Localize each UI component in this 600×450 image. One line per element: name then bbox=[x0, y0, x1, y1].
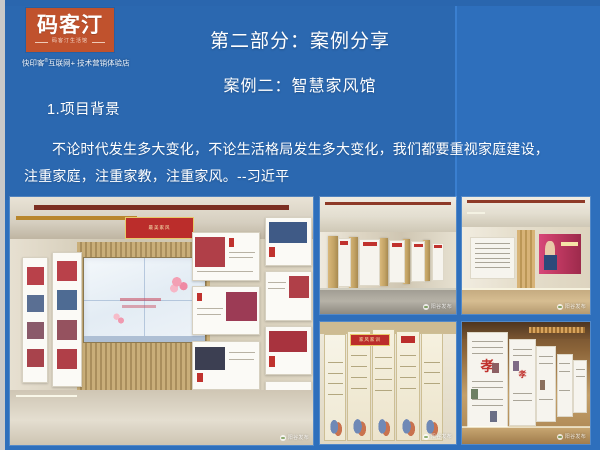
screen-text-line-1 bbox=[120, 298, 161, 301]
baseboard-light bbox=[462, 288, 590, 290]
panel-photo bbox=[540, 380, 545, 390]
scroll-illustration bbox=[329, 413, 342, 436]
board-photo bbox=[226, 292, 257, 321]
ceiling-band bbox=[467, 200, 585, 203]
panel-header-banner bbox=[434, 245, 442, 248]
board-text-line bbox=[229, 257, 253, 258]
display-pillar bbox=[380, 238, 388, 286]
board-photo bbox=[27, 349, 44, 366]
watermark: 阳谷发布 bbox=[557, 304, 586, 310]
background-top-sheen bbox=[0, 0, 600, 6]
board-text-line bbox=[197, 314, 221, 315]
board-seal bbox=[269, 247, 274, 257]
board-photo bbox=[195, 237, 224, 266]
logo-brand-ornament: 码客汀生活馆 bbox=[52, 38, 88, 45]
wechat-icon bbox=[423, 304, 429, 310]
portrait-title-bar bbox=[561, 242, 578, 246]
photo-top-right-2: 阳谷发布 bbox=[462, 197, 590, 314]
board-text-line bbox=[197, 308, 224, 309]
board-photo bbox=[27, 267, 44, 284]
watermark-text: 阳谷发布 bbox=[431, 434, 452, 440]
floor bbox=[320, 288, 456, 314]
board-seal bbox=[197, 293, 202, 301]
board-seal bbox=[197, 373, 203, 382]
scroll-illustration bbox=[401, 412, 415, 436]
watermark-text: 阳谷发布 bbox=[565, 434, 586, 440]
watermark-text: 阳谷发布 bbox=[288, 435, 309, 441]
board-photo bbox=[27, 322, 44, 339]
board-photo bbox=[57, 290, 78, 310]
display-board bbox=[192, 232, 261, 281]
led-video-wall bbox=[83, 257, 206, 343]
display-panel bbox=[432, 243, 445, 281]
photo-top-right-1: 阳谷发布 bbox=[320, 197, 456, 314]
board-photo bbox=[289, 276, 309, 298]
display-board bbox=[265, 271, 312, 320]
board-photo bbox=[269, 331, 307, 353]
wechat-icon bbox=[557, 434, 563, 440]
scroll-panel bbox=[372, 329, 396, 441]
watermark: 阳谷发布 bbox=[423, 304, 452, 310]
portrait-figure-body bbox=[544, 255, 557, 270]
scroll-panel bbox=[347, 331, 371, 442]
display-panel bbox=[389, 240, 405, 283]
display-board bbox=[265, 326, 312, 375]
scroll-illustration bbox=[425, 413, 438, 436]
board-text-line bbox=[229, 252, 256, 253]
big-character: 孝 bbox=[518, 371, 528, 379]
board-text-line bbox=[268, 282, 286, 283]
ceiling-strip-gold bbox=[16, 216, 137, 220]
panel-photo bbox=[513, 361, 519, 371]
brand-logo: 码客汀 码客汀生活馆 快印客®互联网+ 技术营销体验店 bbox=[22, 8, 118, 69]
display-panel bbox=[573, 360, 587, 413]
slide-subtitle: 案例二：智慧家风馆 bbox=[0, 76, 600, 97]
screen-taskbar bbox=[84, 336, 205, 342]
exhibit-sign: 最美家风 bbox=[125, 217, 194, 239]
wechat-icon bbox=[423, 434, 429, 440]
watermark: 阳谷发布 bbox=[280, 435, 309, 441]
floor bbox=[10, 390, 313, 445]
board-photo bbox=[27, 295, 44, 312]
board-text-line bbox=[229, 352, 256, 353]
watermark: 阳谷发布 bbox=[557, 434, 586, 440]
photo-tr1-scene bbox=[320, 197, 456, 314]
scroll-panel bbox=[421, 333, 443, 441]
ceiling-strip bbox=[34, 205, 289, 211]
watermark: 阳谷发布 bbox=[423, 434, 452, 440]
display-panel: 孝 bbox=[509, 339, 535, 426]
screen-text-line-2 bbox=[122, 305, 156, 308]
board-text-line bbox=[197, 271, 253, 272]
board-text-line bbox=[229, 359, 254, 360]
panel-photo bbox=[490, 411, 498, 422]
display-panel bbox=[359, 239, 380, 285]
ceiling-light bbox=[467, 212, 485, 214]
panel-header-banner bbox=[392, 243, 402, 247]
display-panel bbox=[338, 238, 351, 287]
watermark-text: 阳谷发布 bbox=[431, 304, 452, 310]
board-photo bbox=[269, 222, 307, 244]
scroll-panel bbox=[324, 334, 346, 441]
watermark-text: 阳谷发布 bbox=[565, 304, 586, 310]
photo-br1-scene: 家风家训 bbox=[320, 322, 456, 444]
board-seal bbox=[229, 238, 234, 246]
floor-light-strip bbox=[16, 395, 77, 397]
photo-br2-scene: 孝 孝 bbox=[462, 322, 590, 444]
panel-photo bbox=[471, 389, 478, 399]
display-board bbox=[192, 286, 261, 335]
exhibit-sign: 家风家训 bbox=[350, 334, 390, 346]
display-panel bbox=[411, 241, 425, 282]
display-board bbox=[22, 257, 48, 383]
scroll-illustration bbox=[377, 412, 391, 436]
baseboard-light bbox=[320, 288, 456, 290]
photo-main-scene: 最美家风 bbox=[10, 197, 313, 445]
portrait-display bbox=[539, 234, 581, 274]
panel-header-banner bbox=[340, 241, 348, 245]
quote-block: 不论时代发生多大变化，不论生活格局发生多大变化，我们都要重视家庭建设， 注重家庭… bbox=[24, 136, 580, 190]
photo-bottom-right-1: 家风家训 阳谷发布 bbox=[320, 322, 456, 444]
wechat-icon bbox=[557, 304, 563, 310]
screen-blossom-graphic bbox=[166, 273, 193, 295]
scroll-panel bbox=[396, 331, 420, 442]
text-wall-panel bbox=[470, 237, 516, 279]
floor bbox=[462, 288, 590, 314]
photo-main: 最美家风 bbox=[10, 197, 313, 445]
ceiling bbox=[320, 197, 456, 232]
board-photo bbox=[195, 347, 224, 371]
board-photo bbox=[57, 349, 78, 369]
scroll-illustration bbox=[352, 412, 366, 436]
logo-tagline-prefix: 快印客 bbox=[22, 59, 45, 68]
panel-photo bbox=[492, 363, 499, 373]
photo-bottom-right-2: 孝 孝 bbox=[462, 322, 590, 444]
ceiling-band bbox=[325, 202, 450, 205]
wechat-icon bbox=[280, 435, 286, 441]
display-pillar bbox=[328, 236, 338, 290]
board-photo bbox=[57, 320, 78, 340]
logo-tagline: 快印客®互联网+ 技术营销体验店 bbox=[22, 56, 118, 69]
logo-tagline-rest: 互联网+ 技术营销体验店 bbox=[48, 59, 129, 68]
display-board bbox=[265, 217, 312, 266]
photo-tr2-scene bbox=[462, 197, 590, 314]
panel-header-banner bbox=[363, 242, 377, 246]
display-panel: 孝 bbox=[467, 332, 507, 434]
slide-left-border bbox=[0, 0, 5, 450]
logo-brand-text: 码客汀 bbox=[37, 15, 103, 36]
presentation-slide: 码客汀 码客汀生活馆 快印客®互联网+ 技术营销体验店 第二部分：案例分享 案例… bbox=[0, 0, 600, 450]
wood-column bbox=[517, 230, 535, 289]
section-heading: 1.项目背景 bbox=[47, 100, 120, 120]
baseboard-light bbox=[462, 426, 590, 428]
display-board bbox=[192, 341, 261, 390]
panel-header-banner bbox=[414, 244, 423, 247]
quote-line-1: 不论时代发生多大变化，不论生活格局发生多大变化，我们都要重视家庭建设， bbox=[24, 136, 580, 163]
board-photo bbox=[57, 261, 78, 281]
display-panel bbox=[557, 354, 573, 417]
display-panel bbox=[536, 346, 556, 421]
display-board bbox=[52, 252, 81, 388]
screen-blossom-graphic-2 bbox=[110, 311, 132, 330]
ceiling-slats bbox=[529, 327, 585, 333]
quote-line-2: 注重家庭，注重家教，注重家风。--习近平 bbox=[24, 163, 580, 190]
scroll-header bbox=[401, 336, 415, 344]
logo-badge: 码客汀 码客汀生活馆 bbox=[26, 8, 114, 52]
board-seal bbox=[269, 356, 274, 366]
board-text-line bbox=[268, 288, 284, 289]
